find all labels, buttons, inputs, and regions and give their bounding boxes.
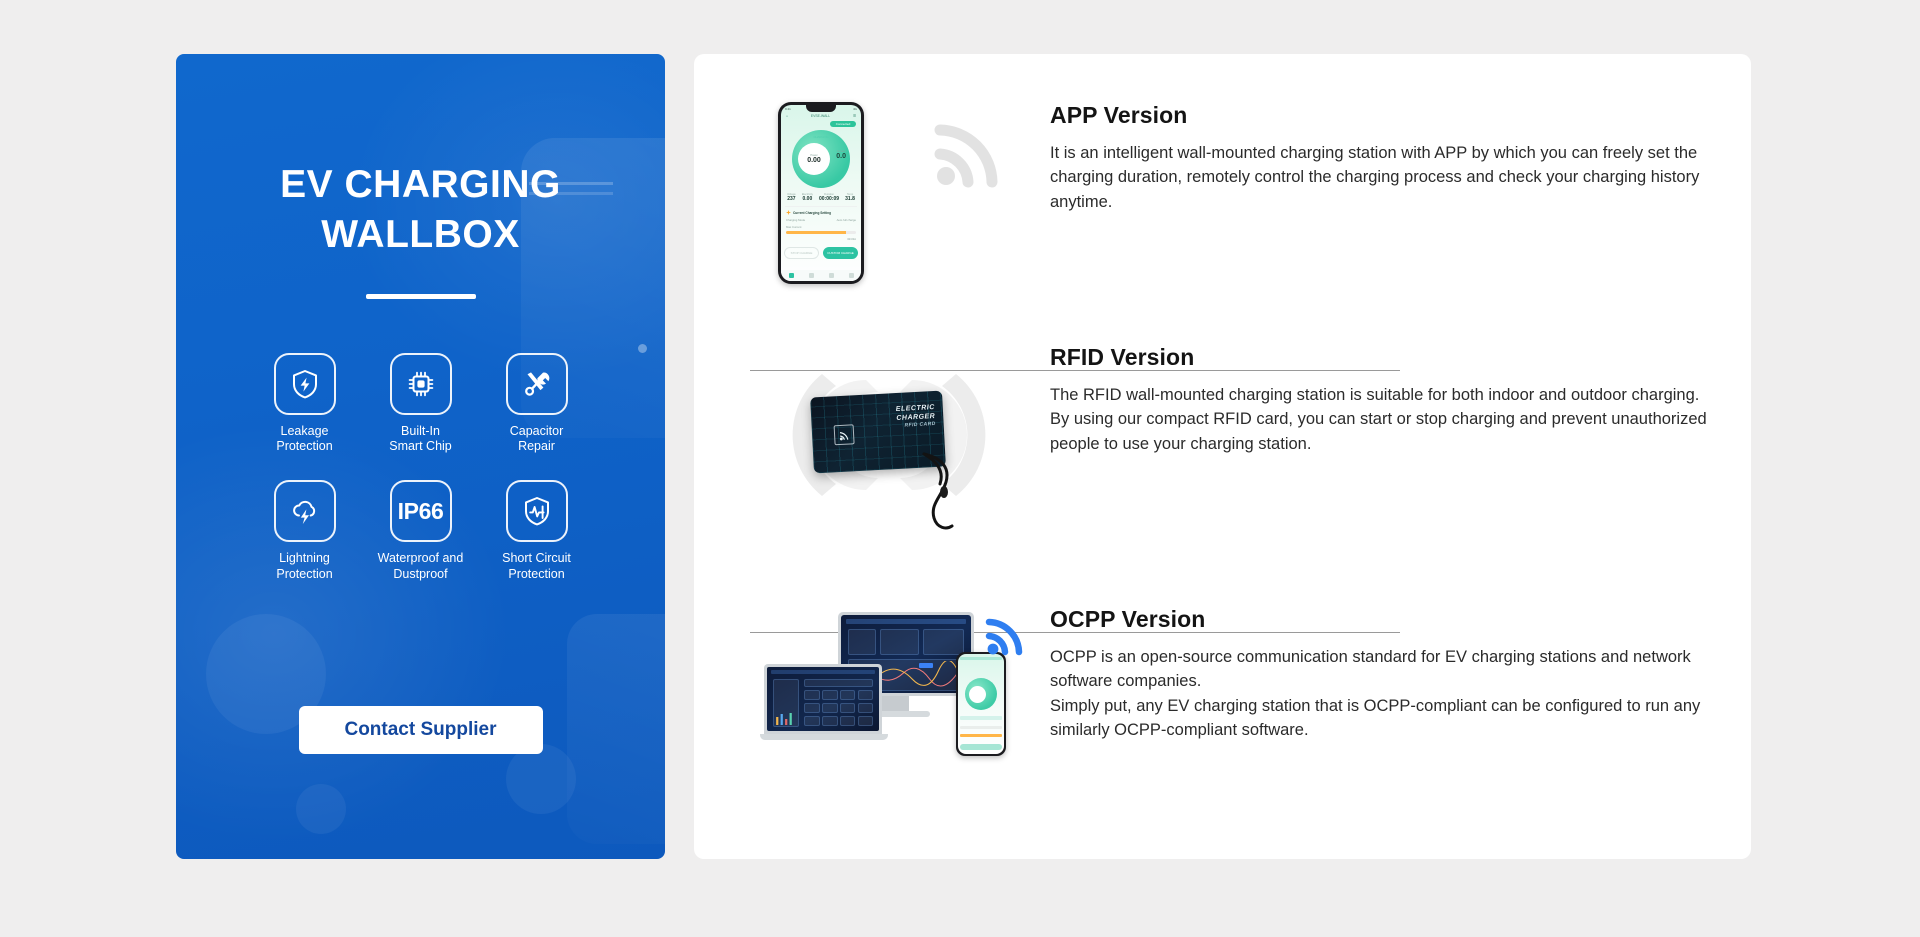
- dashboard-toolbar: [771, 670, 874, 674]
- ocpp-version-text: OCPP Version OCPP is an open-source comm…: [1040, 606, 1710, 742]
- rfid-antenna-icon: [834, 424, 855, 445]
- phone-app-header: ⌂ EVSE-WALL ☰: [781, 111, 861, 118]
- feature-grid: Leakage Protection: [247, 353, 595, 582]
- stat-duration: Duration 00:00:09: [819, 193, 839, 202]
- phone-primary-button[interactable]: [960, 744, 1002, 750]
- feature-lightning-protection: Lightning Protection: [247, 480, 363, 582]
- stat-temperature: Temp 31.8: [845, 193, 855, 202]
- gauge-state-label: CHARGING: [813, 135, 828, 139]
- laptop-dashboard-screen: [767, 667, 879, 731]
- stat-electricity: Electricity 0.00: [802, 193, 813, 202]
- dashboard-panel: [880, 629, 919, 655]
- dashboard-toolbar: [846, 619, 966, 624]
- product-detail-page: EV CHARGING WALLBOX Leakage Protection: [0, 0, 1920, 937]
- shield-bolt-icon: [274, 353, 336, 415]
- phone-stats-row: Voltage 237 Electricity 0.00 Duration 00…: [781, 193, 861, 202]
- feature-short-circuit-protection: Short Circuit Protection: [479, 480, 595, 582]
- feature-label: Capacitor Repair: [510, 424, 564, 455]
- charging-mode-key: Charging Mode: [786, 218, 805, 222]
- tools-repair-icon: [506, 353, 568, 415]
- spark-icon: [786, 210, 791, 215]
- feature-label: Built-In Smart Chip: [389, 424, 452, 455]
- stat-value: 00:00:09: [819, 196, 839, 202]
- dashboard-tile: [840, 690, 856, 700]
- nav-stats-icon[interactable]: [829, 273, 834, 278]
- phone-bottom-nav: [781, 270, 861, 281]
- charging-setting-title: Current Charging Setting: [793, 211, 831, 215]
- contact-supplier-button[interactable]: Contact Supplier: [299, 706, 543, 754]
- version-description: It is an intelligent wall-mounted chargi…: [1050, 141, 1710, 214]
- current-readout: Current 0.0: [836, 150, 846, 160]
- ocpp-phone-screen: [958, 654, 1004, 754]
- max-current-row: Max Current: [786, 225, 856, 229]
- dashboard-tile: [804, 716, 820, 726]
- ip66-label: IP66: [398, 498, 444, 525]
- rfid-card-photo: ELECTRIC CHARGER RFID CARD: [770, 344, 1020, 524]
- app-version-text: APP Version It is an intelligent wall-mo…: [1040, 102, 1710, 214]
- back-icon[interactable]: ⌂: [786, 114, 788, 118]
- dashboard-tile: [858, 703, 874, 713]
- promo-panel: EV CHARGING WALLBOX Leakage Protection: [176, 54, 665, 859]
- power-value: 0.00: [807, 157, 821, 164]
- bokeh-decoration: [506, 744, 576, 814]
- version-section-rfid: ELECTRIC CHARGER RFID CARD RFID Version …: [750, 344, 1710, 524]
- phone-setting-row: [960, 726, 1002, 729]
- wifi-signal-icon: [932, 116, 1006, 190]
- status-time: 9:41: [785, 107, 791, 111]
- app-header-title: EVSE-WALL: [811, 114, 830, 118]
- wallbox-silhouette-decoration-lower: [567, 614, 665, 844]
- max-current-slider[interactable]: [786, 231, 856, 234]
- feature-leakage-protection: Leakage Protection: [247, 353, 363, 455]
- smartphone-app-screenshot: 9:41 4G ⌂ EVSE-WALL ☰ Connected CHARGING: [770, 102, 1020, 312]
- max-current-value: 32/32A: [847, 237, 856, 241]
- ip66-rating-icon: IP66: [390, 480, 452, 542]
- version-title: OCPP Version: [1050, 606, 1710, 633]
- laptop-base: [760, 734, 888, 740]
- rfid-version-text: RFID Version The RFID wall-mounted charg…: [1040, 344, 1710, 456]
- max-current-key: Max Current: [786, 225, 801, 229]
- max-current-value-row: 32/32A: [786, 237, 856, 241]
- connected-status-badge: Connected: [830, 121, 856, 127]
- shield-circuit-icon: [506, 480, 568, 542]
- charging-setting-header: Current Charging Setting: [786, 210, 856, 215]
- cloud-lightning-icon: [274, 480, 336, 542]
- dashboard-tile: [822, 690, 838, 700]
- charging-mode-value: Auto full charge: [837, 218, 856, 222]
- stat-value: 31.8: [845, 196, 855, 202]
- custom-charge-button[interactable]: CUSTOM CHARGE: [823, 247, 858, 259]
- version-description: The RFID wall-mounted charging station i…: [1050, 383, 1710, 456]
- laptop-bar-chart: [775, 711, 797, 725]
- smart-chip-icon: [390, 353, 452, 415]
- divider: [785, 206, 857, 207]
- ocpp-version-media: [750, 606, 1040, 756]
- phone-screen: 9:41 4G ⌂ EVSE-WALL ☰ Connected CHARGING: [781, 105, 861, 281]
- phone-device-frame: 9:41 4G ⌂ EVSE-WALL ☰ Connected CHARGING: [778, 102, 864, 284]
- version-section-ocpp: OCPP Version OCPP is an open-source comm…: [750, 606, 1710, 756]
- bokeh-decoration: [296, 784, 346, 834]
- version-title: RFID Version: [1050, 344, 1710, 371]
- phone-stats-strip: [960, 716, 1002, 720]
- version-title: APP Version: [1050, 102, 1710, 129]
- page-title: EV CHARGING WALLBOX: [176, 160, 665, 260]
- laptop-device: [760, 664, 888, 742]
- version-section-app: 9:41 4G ⌂ EVSE-WALL ☰ Connected CHARGING: [750, 102, 1710, 312]
- stat-value: 237: [787, 196, 796, 202]
- version-description: OCPP is an open-source communication sta…: [1050, 645, 1710, 742]
- rfid-version-media: ELECTRIC CHARGER RFID CARD: [750, 344, 1040, 524]
- mini-charging-gauge: [965, 678, 997, 710]
- dashboard-tile: [804, 690, 820, 700]
- ocpp-smartphone: [956, 652, 1006, 756]
- dashboard-tile: [858, 716, 874, 726]
- stat-voltage: Voltage 237: [787, 193, 796, 202]
- dashboard-panel: [848, 629, 877, 655]
- feature-built-in-smart-chip: Built-In Smart Chip: [363, 353, 479, 455]
- dashboard-tile: [840, 716, 856, 726]
- dashboard-badge: [919, 663, 933, 668]
- menu-icon[interactable]: ☰: [853, 114, 856, 118]
- nav-settings-icon[interactable]: [849, 273, 854, 278]
- phone-progress-bar: [960, 734, 1002, 737]
- version-detail-card: 9:41 4G ⌂ EVSE-WALL ☰ Connected CHARGING: [694, 54, 1751, 859]
- dashboard-panel: [804, 679, 873, 687]
- current-value: 0.0: [836, 153, 846, 160]
- title-underline-rule: [366, 294, 476, 299]
- feature-label: Leakage Protection: [276, 424, 332, 455]
- feature-label: Waterproof and Dustproof: [378, 551, 464, 582]
- feature-label: Lightning Protection: [276, 551, 332, 582]
- nav-home-icon[interactable]: [789, 273, 794, 278]
- feature-waterproof-dustproof: IP66 Waterproof and Dustproof: [363, 480, 479, 582]
- dashboard-panel: [923, 629, 965, 655]
- status-network: 4G: [853, 107, 857, 111]
- dashboard-tile: [858, 690, 874, 700]
- charging-gauge: CHARGING Power 0.00 Current 0.0: [792, 130, 850, 188]
- rfid-card-text: ELECTRIC CHARGER RFID CARD: [896, 403, 936, 430]
- dashboard-tile: [822, 703, 838, 713]
- feature-capacitor-repair: Capacitor Repair: [479, 353, 595, 455]
- stop-charge-button[interactable]: STOP CHARGE: [784, 247, 819, 259]
- dashboard-tile: [840, 703, 856, 713]
- power-readout: Power 0.00: [798, 143, 830, 175]
- charging-mode-row[interactable]: Charging Mode Auto full charge: [786, 218, 856, 222]
- dashboard-tile: [822, 716, 838, 726]
- stat-value: 0.00: [802, 196, 813, 202]
- feature-label: Short Circuit Protection: [502, 551, 571, 582]
- wifi-signal-icon: [984, 614, 1028, 658]
- phone-action-buttons: STOP CHARGE CUSTOM CHARGE: [781, 247, 861, 259]
- lanyard-strap: [920, 452, 966, 532]
- ocpp-devices-photo: [760, 606, 1030, 756]
- wallbox-indicator-dot-decoration: [638, 344, 647, 353]
- nav-records-icon[interactable]: [809, 273, 814, 278]
- dashboard-tile: [804, 703, 820, 713]
- phone-notch: [806, 105, 836, 112]
- laptop-screen-frame: [764, 664, 882, 734]
- app-version-media: 9:41 4G ⌂ EVSE-WALL ☰ Connected CHARGING: [750, 102, 1040, 312]
